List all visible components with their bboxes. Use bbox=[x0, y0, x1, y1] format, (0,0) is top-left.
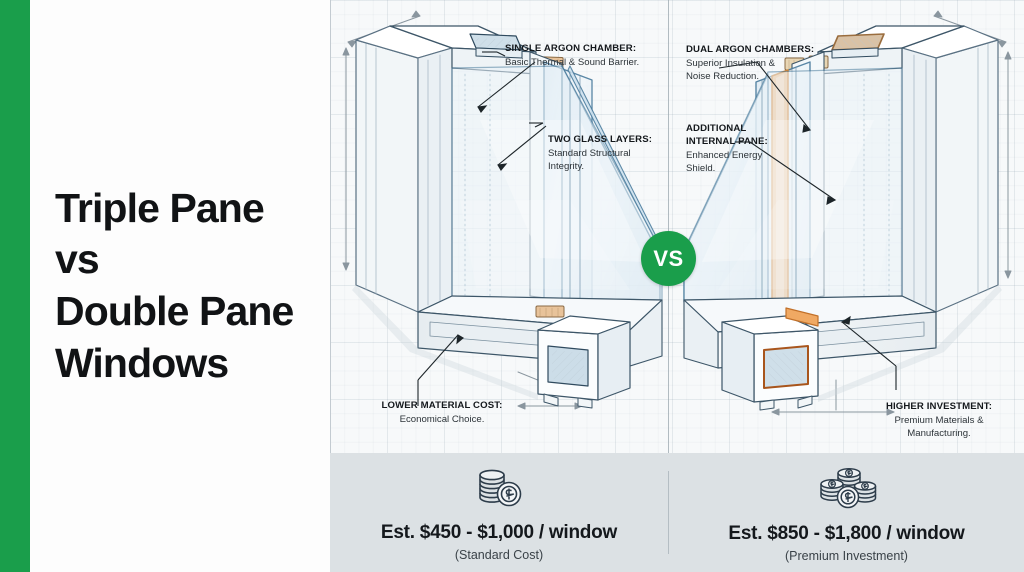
cost-note-double: (Standard Cost) bbox=[455, 548, 543, 562]
page-title-line-2: vs bbox=[55, 234, 320, 286]
panel-left-edge bbox=[330, 0, 331, 453]
callout-body-line-1: Standard Structural bbox=[548, 147, 652, 160]
callout-title: LOWER MATERIAL COST: bbox=[342, 400, 542, 413]
callout-body: Economical Choice. bbox=[342, 413, 542, 426]
diagram-area: SINGLE ARGON CHAMBER: Basic Thermal & So… bbox=[330, 0, 1024, 453]
callout-single-argon-chamber: SINGLE ARGON CHAMBER: Basic Thermal & So… bbox=[505, 43, 639, 69]
double-pane-cutaway bbox=[343, 11, 662, 409]
callout-title: TWO GLASS LAYERS: bbox=[548, 134, 652, 147]
callout-body-line-2: Manufacturing. bbox=[854, 427, 1024, 440]
cost-bar-divider bbox=[668, 471, 669, 554]
cost-amount-triple: Est. $850 - $1,800 / window bbox=[728, 523, 964, 545]
callout-body: Basic Thermal & Sound Barrier. bbox=[505, 56, 639, 69]
title-panel: Triple Pane vs Double Pane Windows bbox=[30, 0, 330, 572]
page-title-line-4: Windows bbox=[55, 338, 320, 390]
infographic-root: Triple Pane vs Double Pane Windows bbox=[0, 0, 1024, 572]
callout-title: SINGLE ARGON CHAMBER: bbox=[505, 43, 639, 56]
cost-amount-double: Est. $450 - $1,000 / window bbox=[381, 522, 617, 544]
callout-two-glass-layers: TWO GLASS LAYERS: Standard Structural In… bbox=[548, 134, 652, 173]
cost-column-double-pane: Est. $450 - $1,000 / window (Standard Co… bbox=[330, 453, 668, 572]
callout-body-line-2: Shield. bbox=[686, 162, 768, 175]
callout-title-line-1: ADDITIONAL bbox=[686, 123, 768, 136]
cost-note-triple: (Premium Investment) bbox=[785, 549, 908, 563]
page-title-line-1: Triple Pane bbox=[55, 183, 320, 235]
callout-dual-argon-chambers: DUAL ARGON CHAMBERS: Superior Insulation… bbox=[686, 44, 814, 83]
callout-higher-investment: HIGHER INVESTMENT: Premium Materials & M… bbox=[854, 401, 1024, 440]
callout-title-line-2: INTERNAL PANE: bbox=[686, 136, 768, 149]
callout-title: DUAL ARGON CHAMBERS: bbox=[686, 44, 814, 57]
vs-badge: VS bbox=[641, 231, 696, 286]
callout-body-line-2: Noise Reduction. bbox=[686, 70, 814, 83]
coin-stack-icon bbox=[473, 468, 525, 513]
callout-body-line-1: Superior Insulation & bbox=[686, 57, 814, 70]
callout-body-line-1: Premium Materials & bbox=[854, 414, 1024, 427]
page-title-line-3: Double Pane bbox=[55, 286, 320, 338]
cost-column-triple-pane: Est. $850 - $1,800 / window (Premium Inv… bbox=[669, 453, 1024, 572]
callout-body-line-1: Enhanced Energy bbox=[686, 149, 768, 162]
callout-body-line-2: Integrity. bbox=[548, 160, 652, 173]
callout-additional-internal-pane: ADDITIONAL INTERNAL PANE: Enhanced Energ… bbox=[686, 123, 768, 175]
callout-title: HIGHER INVESTMENT: bbox=[854, 401, 1024, 414]
vs-badge-label: VS bbox=[653, 246, 683, 272]
coin-stacks-icon bbox=[816, 467, 878, 514]
window-diagrams-svg bbox=[330, 0, 1024, 453]
accent-bar bbox=[0, 0, 30, 572]
callout-lower-material-cost: LOWER MATERIAL COST: Economical Choice. bbox=[342, 400, 542, 426]
center-divider bbox=[668, 0, 669, 453]
cost-bar: Est. $450 - $1,000 / window (Standard Co… bbox=[330, 453, 1024, 572]
